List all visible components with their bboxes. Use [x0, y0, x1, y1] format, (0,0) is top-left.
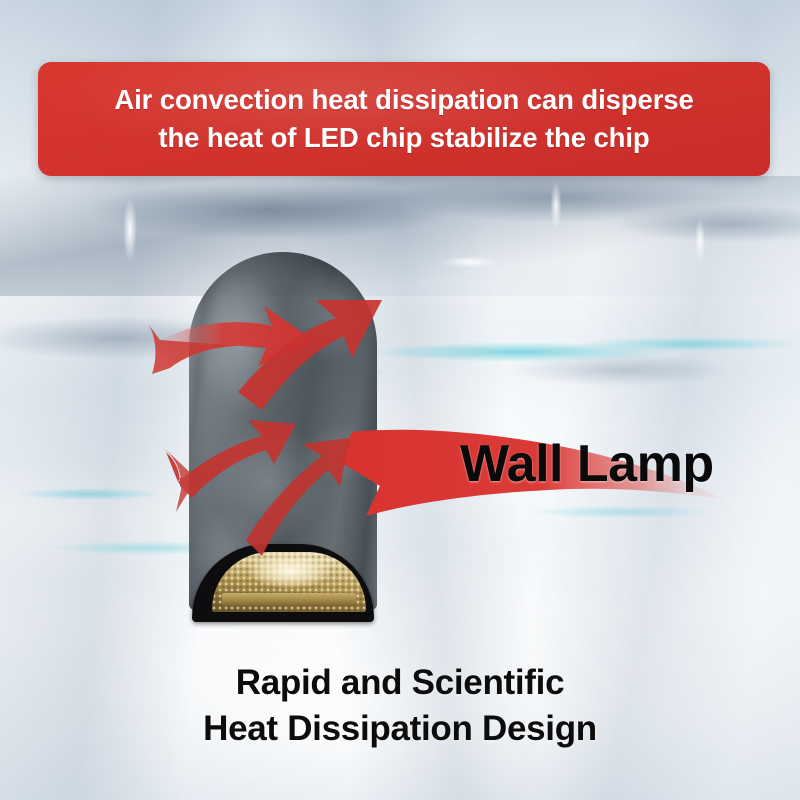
- lamp-led-bezel: [192, 544, 374, 622]
- headline-banner: Air convection heat dissipation can disp…: [38, 62, 770, 176]
- headline-line-2: the heat of LED chip stabilize the chip: [158, 119, 649, 157]
- bottom-caption: Rapid and Scientific Heat Dissipation De…: [0, 660, 800, 752]
- product-name-label: Wall Lamp: [460, 434, 714, 494]
- reflector-inner-shelf: [222, 593, 356, 606]
- led-chip-glow: [250, 554, 330, 588]
- lamp-led-reflector: [212, 552, 366, 612]
- wall-lamp-product: [186, 252, 380, 624]
- caption-line-1: Rapid and Scientific: [0, 660, 800, 706]
- caption-line-2: Heat Dissipation Design: [0, 706, 800, 752]
- headline-line-1: Air convection heat dissipation can disp…: [114, 81, 693, 119]
- product-marketing-image: Air convection heat dissipation can disp…: [0, 0, 800, 800]
